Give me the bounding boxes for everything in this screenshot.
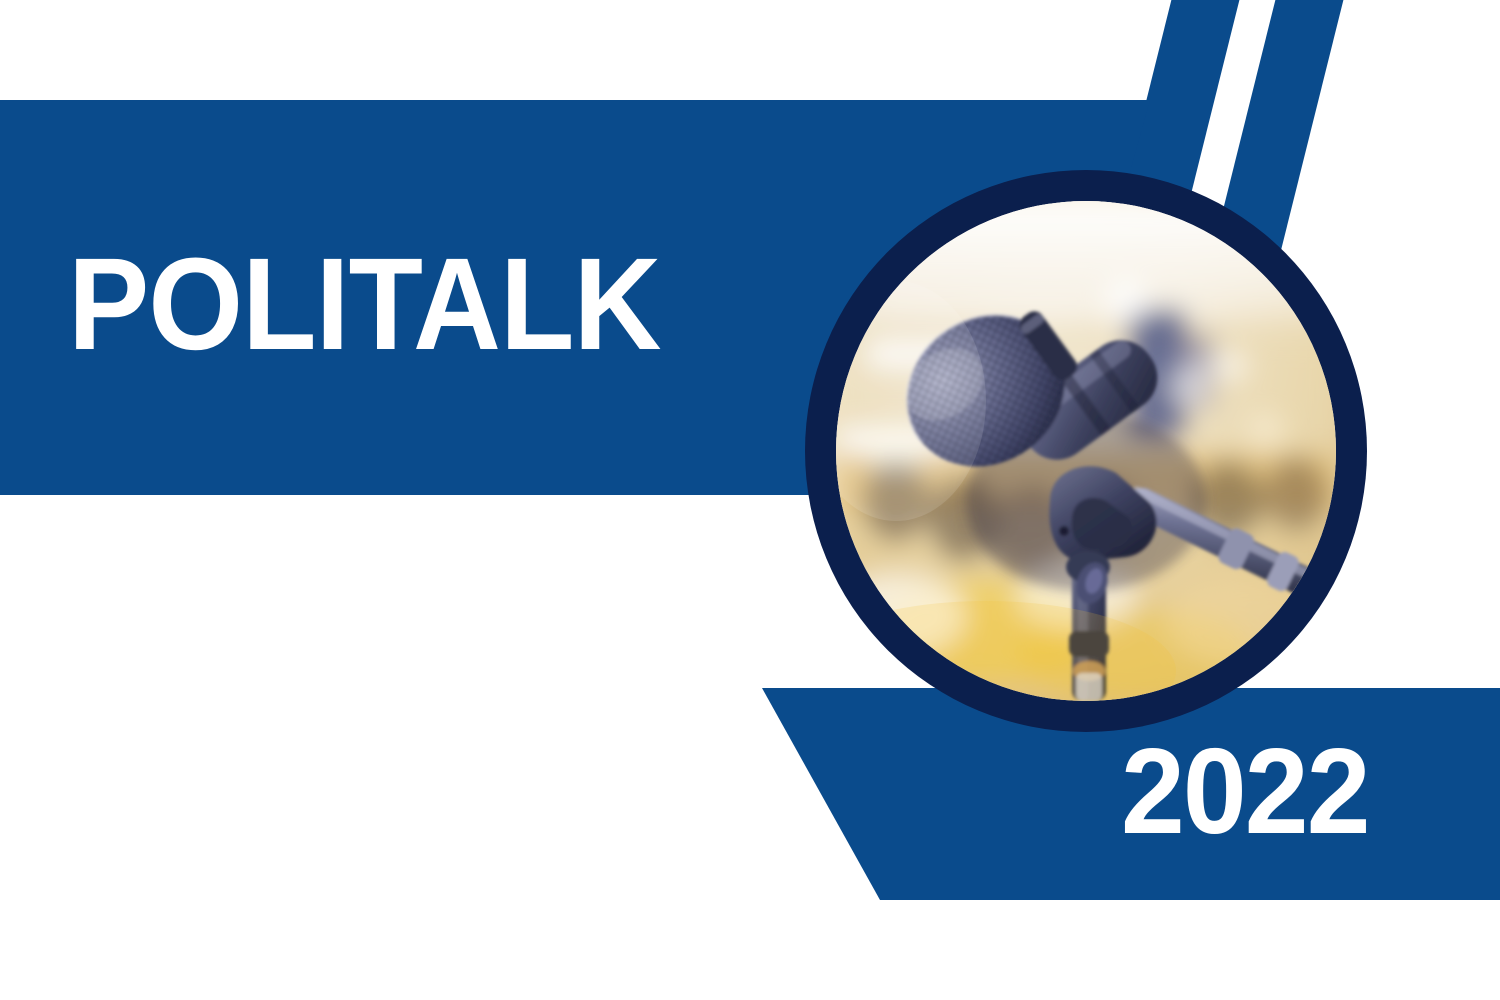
poster-canvas: POLITALK 2022 bbox=[0, 0, 1500, 1000]
year-label: 2022 bbox=[1121, 730, 1369, 852]
photo-badge-ring bbox=[805, 170, 1367, 732]
microphone-photo bbox=[836, 201, 1336, 701]
page-title: POLITALK bbox=[68, 238, 661, 369]
microphone-photo-illustration bbox=[836, 201, 1336, 701]
